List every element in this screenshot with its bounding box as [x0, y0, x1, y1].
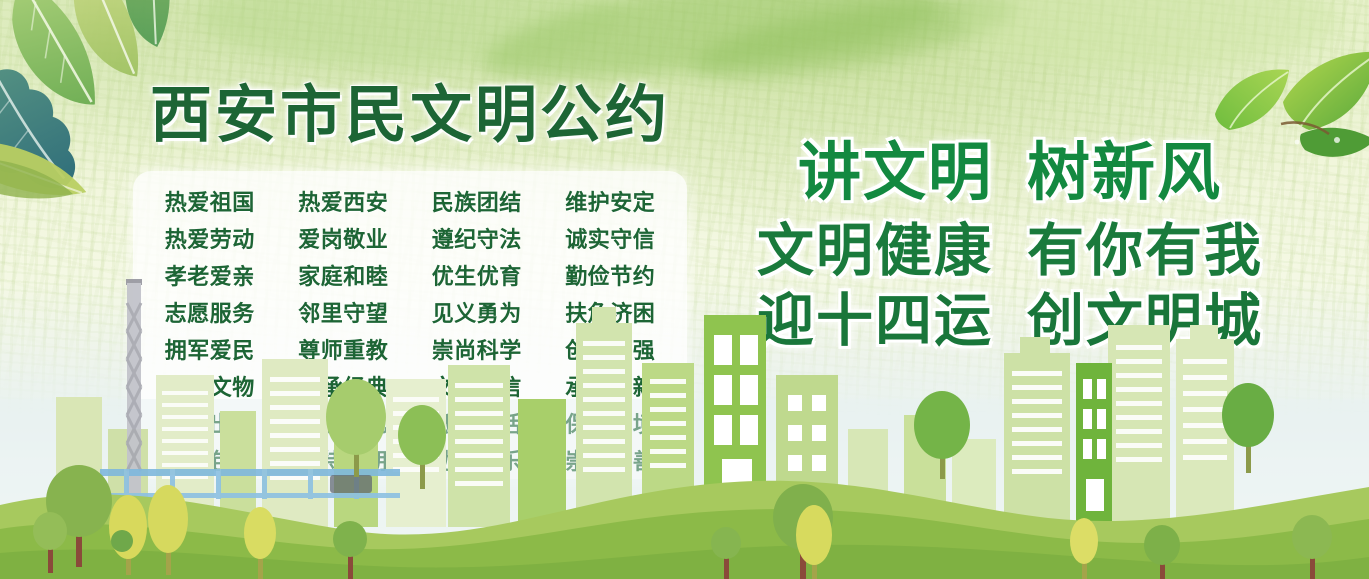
pledge-item: 开放包容	[143, 444, 277, 481]
pledge-item: 见义勇为	[410, 296, 544, 333]
watercolor-wash-top-right	[960, 0, 1340, 70]
pledge-item: 诚实守信	[544, 222, 678, 259]
pledge-item: 礼待宾朋	[277, 444, 411, 481]
page-title: 西安市民文明公约	[150, 84, 670, 146]
pledge-item: 热爱西安	[277, 185, 411, 222]
watercolor-wash-top-left	[200, 0, 620, 70]
pledge-grid: 热爱祖国热爱西安民族团结维护安定热爱劳动爱岗敬业遵纪守法诚实守信孝老爱亲家庭和睦…	[133, 171, 687, 479]
pledge-item: 孝老爱亲	[143, 259, 277, 296]
slogan-3-right: 创文明城	[1027, 288, 1263, 354]
watercolor-wash-top-center-2	[687, 0, 1022, 91]
pledge-item: 爱护文物	[143, 370, 277, 407]
pledge-item: 尊师重教	[277, 333, 411, 370]
slogan-block: 讲文明树新风 文明健康有你有我 迎十四运创文明城	[745, 140, 1275, 362]
slogan-3-left: 迎十四运	[757, 288, 993, 354]
hill-mid	[0, 509, 1369, 579]
pledge-item: 文化自信	[410, 370, 544, 407]
pledge-item: 维护安定	[544, 185, 678, 222]
pledge-item: 崇尚科学	[410, 333, 544, 370]
slogan-line-2: 文明健康有你有我	[745, 221, 1275, 281]
pledge-item: 遵德守礼	[277, 407, 411, 444]
slogan-line-3: 迎十四运创文明城	[745, 291, 1275, 351]
pledge-item: 承古开新	[544, 370, 678, 407]
pledge-item: 邻里守望	[277, 296, 411, 333]
pledge-item: 传承经典	[277, 370, 411, 407]
pledge-item: 助人为乐	[410, 444, 544, 481]
pledge-item: 低碳生活	[410, 407, 544, 444]
slogan-1-left: 讲文明	[798, 136, 993, 209]
slogan-2-left: 文明健康	[757, 218, 993, 284]
hill-back	[0, 481, 1369, 579]
pledge-item: 创新图强	[544, 333, 678, 370]
pledge-item: 遵纪守法	[410, 222, 544, 259]
slogan-line-1: 讲文明树新风	[745, 140, 1275, 207]
pledge-item: 志愿服务	[143, 296, 277, 333]
hill-front	[0, 545, 1369, 579]
pledge-item: 热爱劳动	[143, 222, 277, 259]
pledge-card: 热爱祖国热爱西安民族团结维护安定热爱劳动爱岗敬业遵纪守法诚实守信孝老爱亲家庭和睦…	[133, 171, 687, 479]
pledge-item: 热爱祖国	[143, 185, 277, 222]
pledge-item: 爱岗敬业	[277, 222, 411, 259]
slogan-1-right: 树新风	[1027, 136, 1222, 209]
pledge-item: 优生优育	[410, 259, 544, 296]
civic-pledge-banner: 西安市民文明公约 热爱祖国热爱西安民族团结维护安定热爱劳动爱岗敬业遵纪守法诚实守…	[0, 0, 1369, 579]
pledge-item: 文明出行	[143, 407, 277, 444]
pledge-item: 保护环境	[544, 407, 678, 444]
pledge-item: 拥军爱民	[143, 333, 277, 370]
tree-icon-group-front	[33, 465, 1332, 579]
pledge-item: 崇德向善	[544, 444, 678, 481]
pledge-item: 民族团结	[410, 185, 544, 222]
slogan-2-right: 有你有我	[1027, 218, 1263, 284]
pledge-item: 扶危济困	[544, 296, 678, 333]
pledge-item: 家庭和睦	[277, 259, 411, 296]
pledge-item: 勤俭节约	[544, 259, 678, 296]
